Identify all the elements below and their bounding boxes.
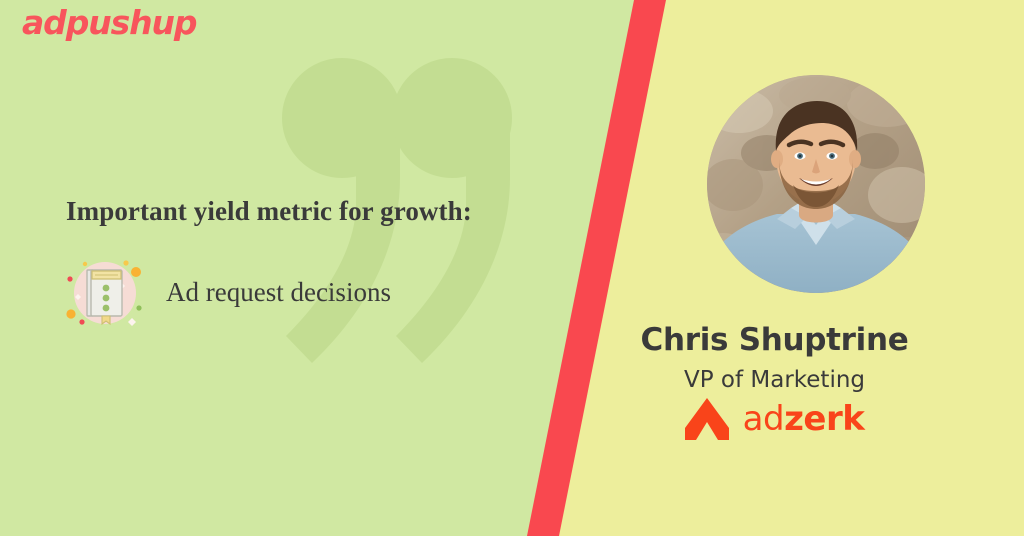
adzerk-wordmark-light: ad: [743, 399, 784, 439]
metric-label: Ad request decisions: [166, 277, 391, 310]
adzerk-logo[interactable]: adzerk: [560, 398, 989, 440]
adzerk-wordmark-bold: zerk: [784, 399, 864, 439]
adpushup-logo[interactable]: adpushup: [22, 6, 196, 39]
book-icon: [62, 250, 148, 336]
avatar: [707, 75, 925, 293]
quote-heading: Important yield metric for growth:: [66, 196, 472, 227]
speaker-role: VP of Marketing: [560, 367, 989, 393]
adzerk-chevron-icon: [685, 398, 729, 440]
metric-row: Ad request decisions: [62, 250, 391, 336]
quote-card: adpushup Important yield metric for grow…: [0, 0, 1024, 536]
adzerk-wordmark: adzerk: [743, 402, 865, 436]
speaker-name: Chris Shuptrine: [560, 322, 989, 358]
